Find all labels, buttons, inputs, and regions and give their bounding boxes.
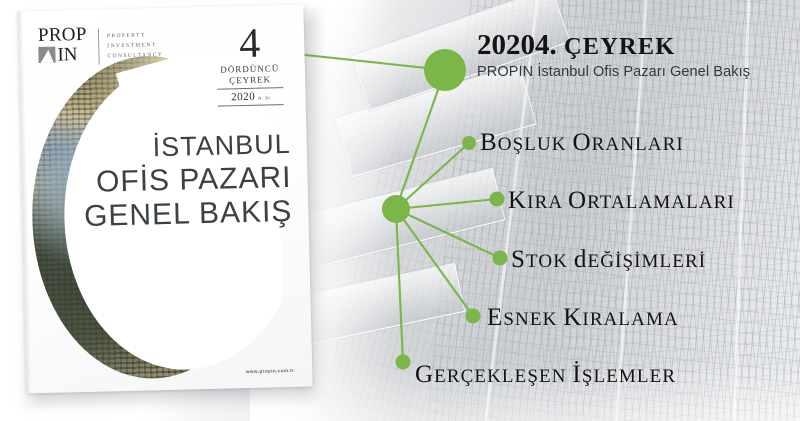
topic-0-initial-2: O <box>572 129 591 156</box>
topic-2-rest: TOK <box>526 251 574 272</box>
headline-block: 20204. ÇEYREK PROPIN İstanbul Ofis Pazar… <box>477 30 797 81</box>
propin-logo[interactable]: PROP IN PROPERTY INVESTMENT CONSULTANCY <box>38 24 164 69</box>
topic-3-initial-2: K <box>563 304 582 331</box>
topic-2-rest-2: EĞİŞİMLERİ <box>587 251 706 272</box>
topic-label-bosluk-oranlari[interactable]: BOŞLUK ORANLARI <box>480 129 684 157</box>
topic-label-esnek-kiralama[interactable]: ESNEK KIRALAMA <box>487 304 679 332</box>
topic-label-gerceklesen-islemler[interactable]: GERÇEKLEŞEN İŞLEMLER <box>415 361 676 389</box>
topic-0-rest-2: RANLARI <box>592 134 684 155</box>
headline-quarter-num: 4. <box>535 29 564 61</box>
headline-subtitle: PROPIN İstanbul Ofis Pazarı Genel Bakış <box>477 63 797 81</box>
logo-word-property: PROPERTY <box>107 32 163 39</box>
logo-divider <box>98 29 100 65</box>
topic-0-initial: B <box>480 129 498 156</box>
topic-3-initial: E <box>487 304 503 331</box>
topic-3-rest: SNEK <box>503 309 563 330</box>
propin-logo-mark: PROP IN <box>38 26 95 69</box>
report-cover[interactable]: PROP IN PROPERTY INVESTMENT CONSULTANCY … <box>22 8 314 400</box>
topic-4-rest: ERÇEKLEŞEN <box>434 366 572 387</box>
logo-in-text: IN <box>57 45 78 64</box>
logo-prop-text: PROP <box>38 25 87 45</box>
headline-quarter-word: ÇEYREK <box>564 33 675 60</box>
cover-page: PROP IN PROPERTY INVESTMENT CONSULTANCY … <box>17 5 312 394</box>
quarter-number: 4 <box>212 23 287 65</box>
poster-canvas: PROP IN PROPERTY INVESTMENT CONSULTANCY … <box>0 0 800 421</box>
topic-0-rest: OŞLUK <box>498 134 573 155</box>
quarter-rule-top <box>217 87 283 90</box>
topic-1-rest: IRA <box>527 192 568 213</box>
logo-tagline: PROPERTY INVESTMENT CONSULTANCY <box>107 32 163 59</box>
cover-title-line-1: İSTANBUL <box>80 131 291 164</box>
quarter-issue: N: 36 <box>258 95 270 100</box>
topic-2-initial-2: d <box>574 246 588 273</box>
logo-word-consultancy: CONSULTANCY <box>107 52 163 59</box>
topic-4-initial: G <box>415 361 434 388</box>
logo-square-icon <box>38 47 55 63</box>
topic-1-rest-2: RTALAMALARI <box>587 192 735 213</box>
topic-1-initial: K <box>508 187 527 214</box>
quarter-year: 2020 <box>231 91 255 104</box>
headline-year: 2020 <box>477 29 535 61</box>
cover-title-line-2: OFİS PAZARI <box>81 162 292 198</box>
quarter-line-1: DÖRDÜNCÜ <box>213 63 287 76</box>
headline-title: 20204. ÇEYREK <box>477 30 797 62</box>
topic-1-initial-2: O <box>568 187 587 214</box>
logo-word-investment: INVESTMENT <box>107 42 163 49</box>
topic-label-kira-ortalamalari[interactable]: KIRA ORTALAMALARI <box>508 187 735 215</box>
quarter-year-row: 2020 N: 36 <box>213 90 287 104</box>
cover-title: İSTANBUL OFİS PAZARI GENEL BAKIŞ <box>80 131 292 233</box>
cover-title-line-3: GENEL BAKIŞ <box>82 197 293 233</box>
topic-2-initial: S <box>511 246 526 273</box>
quarter-badge: 4 DÖRDÜNCÜ ÇEYREK 2020 N: 36 <box>212 23 288 107</box>
topic-4-initial-2: İ <box>572 361 581 388</box>
quarter-line-2: ÇEYREK <box>213 74 287 87</box>
topic-4-rest-2: ŞLEMLER <box>582 366 676 387</box>
cover-website-url[interactable]: www.propin.com.tr <box>246 368 294 374</box>
topic-label-stok-degisimleri[interactable]: STOK dEĞİŞİMLERİ <box>511 246 706 274</box>
topic-3-rest-2: IRALAMA <box>582 309 678 330</box>
